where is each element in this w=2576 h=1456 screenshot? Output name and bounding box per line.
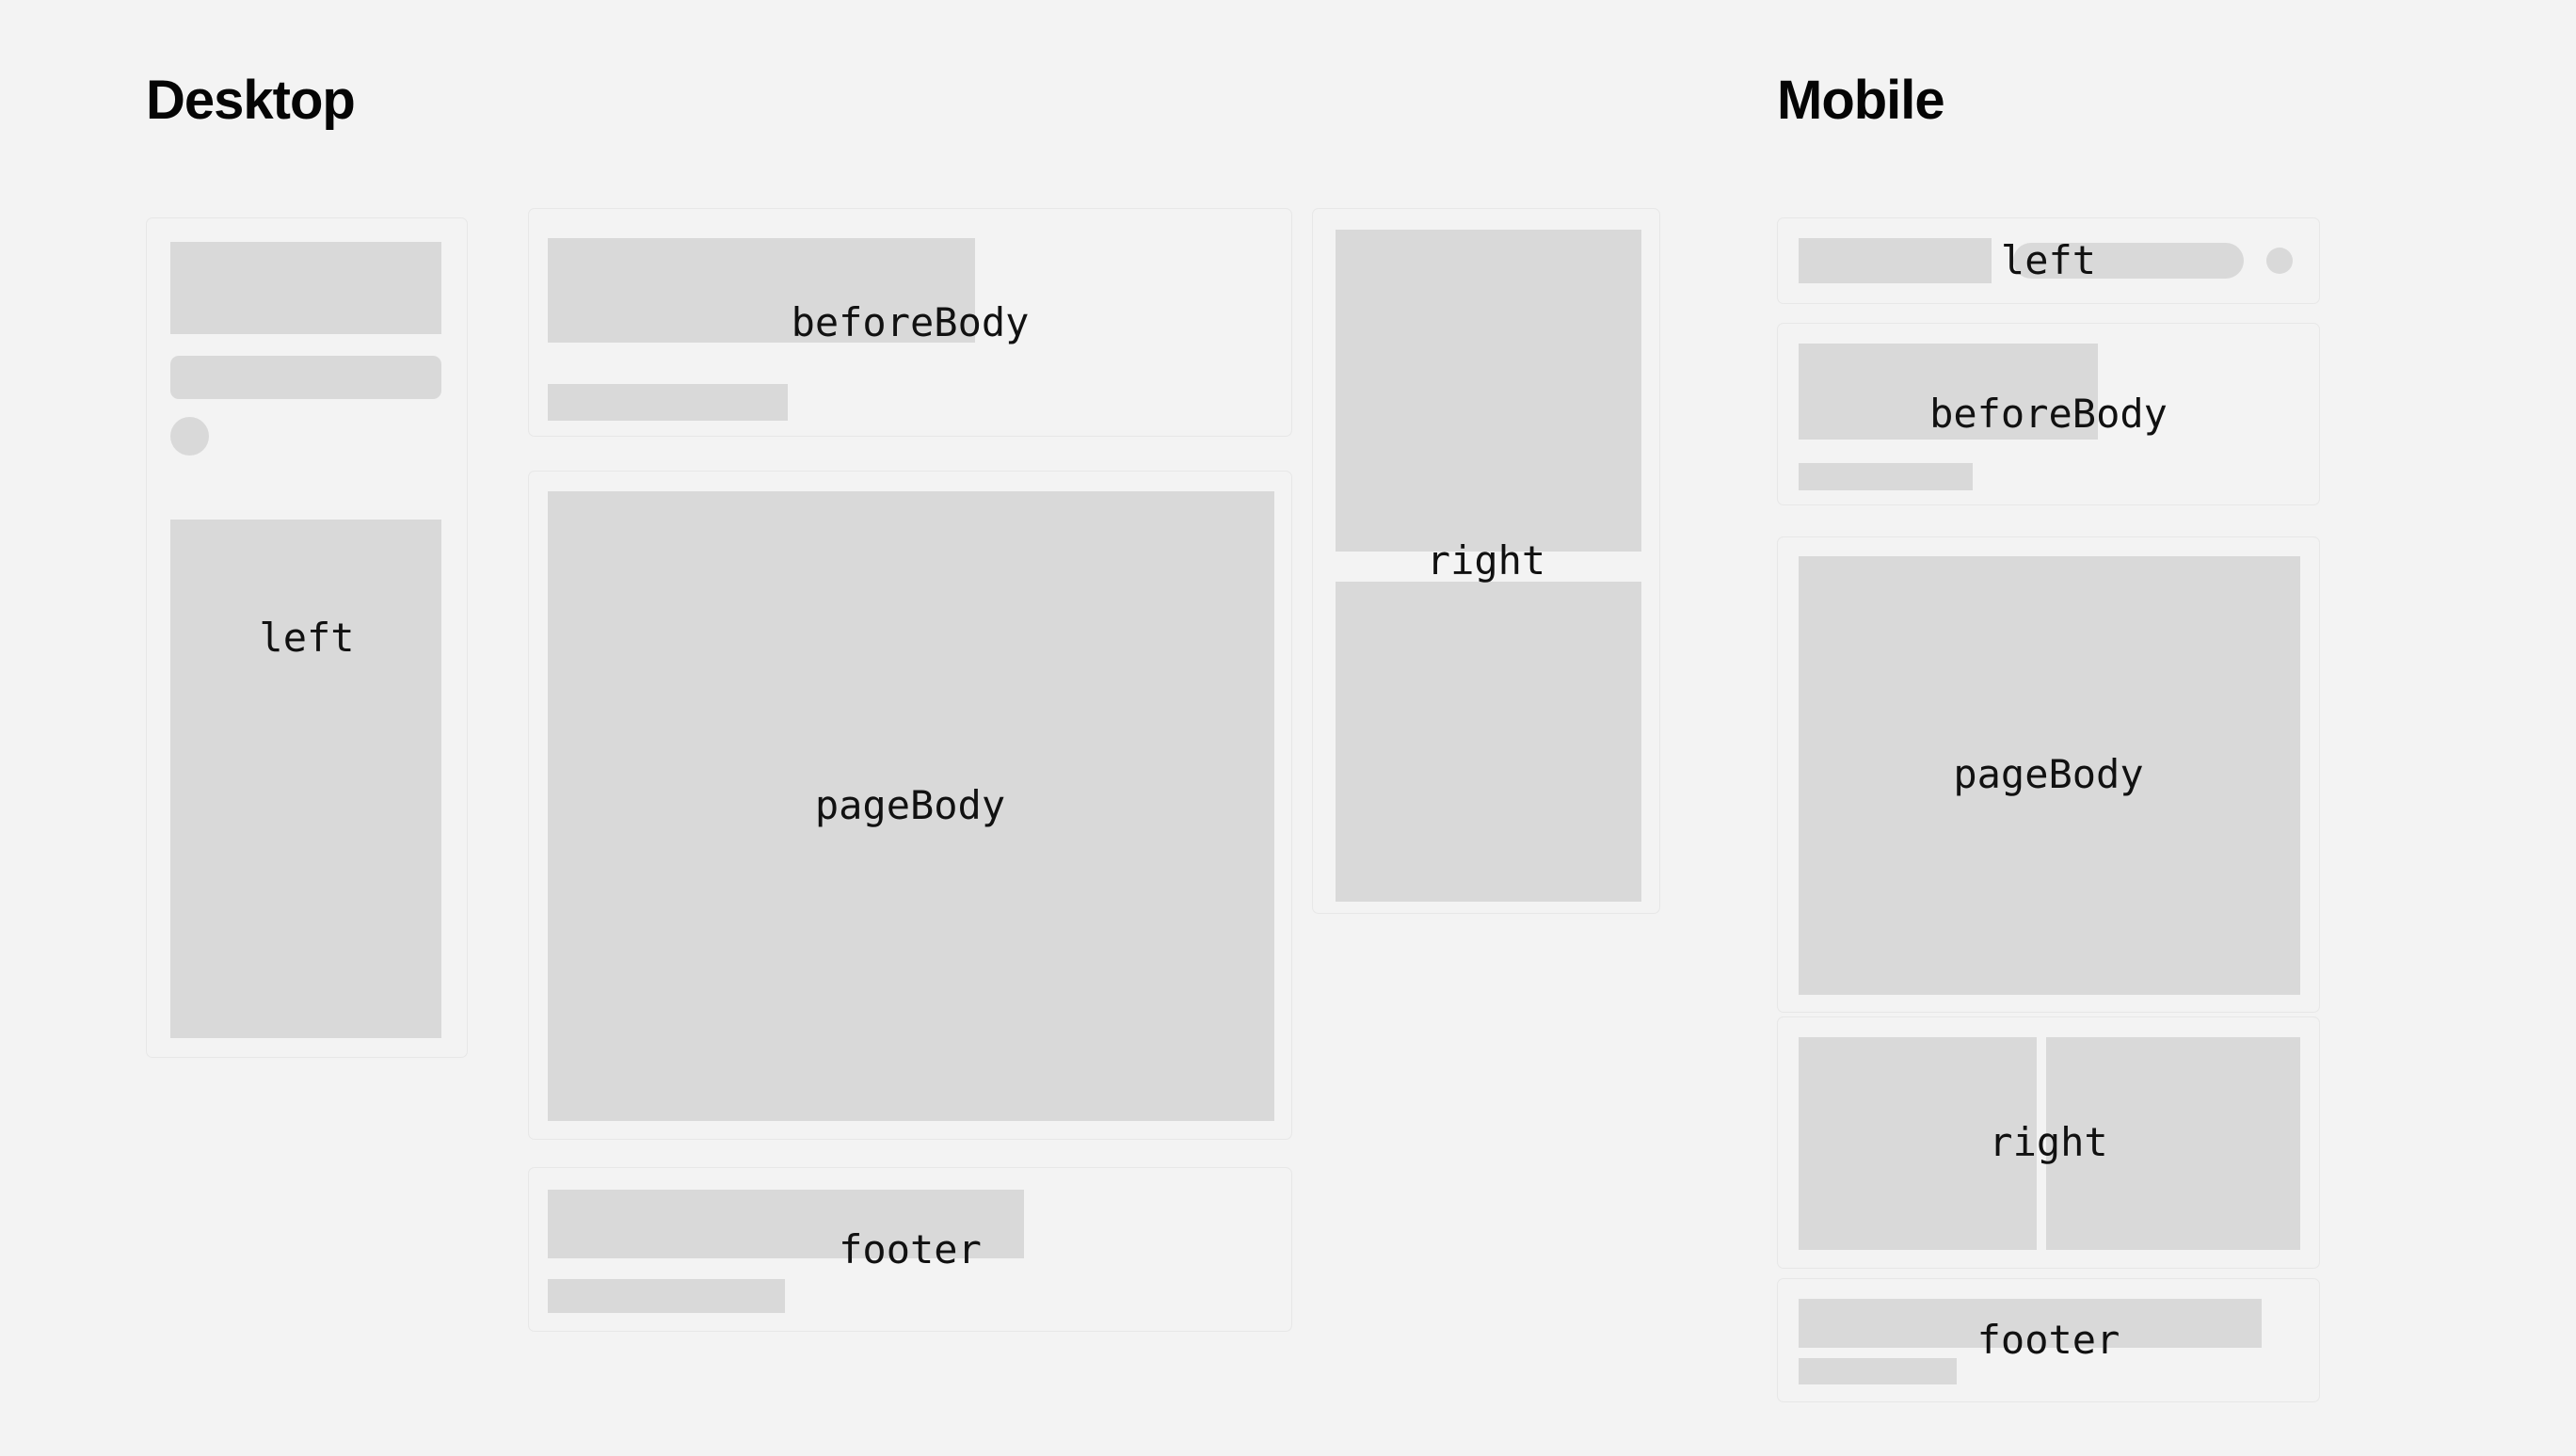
desktop-panel-page-body[interactable]: [528, 471, 1292, 1140]
skeleton-block-small: [1799, 1358, 1957, 1384]
skeleton-block-large: [1799, 556, 2300, 995]
mobile-panel-page-body[interactable]: [1777, 536, 2320, 1013]
skeleton-block-right: [2046, 1037, 2300, 1250]
skeleton-block: [170, 242, 441, 334]
skeleton-block-small: [548, 384, 788, 421]
desktop-panel-before-body[interactable]: [528, 208, 1292, 437]
skeleton-block-upper: [1336, 230, 1641, 552]
skeleton-block-tall: [170, 520, 441, 1038]
desktop-panel-right[interactable]: [1312, 208, 1660, 914]
skeleton-block: [548, 238, 975, 343]
skeleton-block-lower: [1336, 582, 1641, 902]
mobile-panel-right[interactable]: [1777, 1016, 2320, 1269]
skeleton-block-circle: [170, 417, 209, 456]
skeleton-block-large: [548, 491, 1274, 1121]
mobile-panel-before-body[interactable]: [1777, 323, 2320, 505]
skeleton-block-rounded: [170, 356, 441, 399]
skeleton-block-circle: [2266, 248, 2293, 274]
skeleton-block: [1799, 1299, 2262, 1348]
desktop-panel-footer[interactable]: [528, 1167, 1292, 1332]
skeleton-block: [1799, 344, 2098, 440]
column-title-mobile: Mobile: [1777, 73, 1944, 128]
skeleton-block: [1799, 238, 1992, 283]
mobile-panel-footer[interactable]: [1777, 1278, 2320, 1402]
skeleton-block-small: [1799, 463, 1973, 490]
desktop-panel-left[interactable]: [146, 217, 468, 1058]
mobile-panel-left[interactable]: [1777, 217, 2320, 304]
skeleton-block: [548, 1190, 1024, 1258]
skeleton-block-left: [1799, 1037, 2037, 1250]
column-title-desktop: Desktop: [146, 73, 355, 128]
skeleton-block-small: [548, 1279, 785, 1313]
skeleton-block-pill: [2013, 243, 2244, 279]
